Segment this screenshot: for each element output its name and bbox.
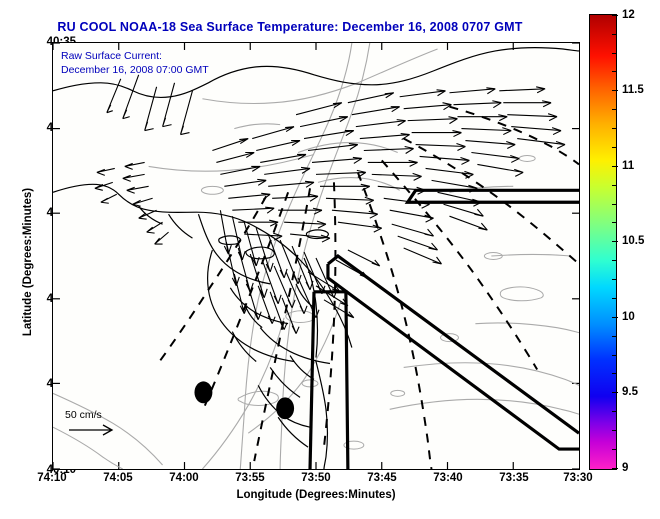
station-markers-layer — [53, 43, 579, 469]
colorbar-tick-label: 12 — [622, 9, 635, 21]
colorbar-tick-label: 10.5 — [622, 235, 644, 247]
x-tick-label: 74:10 — [37, 472, 66, 484]
colorbar-tick-label: 9 — [622, 462, 628, 474]
arrow-right-icon — [65, 421, 121, 439]
colorbar-tick-label: 11 — [622, 160, 634, 172]
x-tick-label: 74:05 — [103, 472, 132, 484]
colorbar-tick-label: 9.5 — [622, 386, 638, 398]
y-axis-label: Latitude (Degrees:Minutes) — [22, 142, 34, 382]
x-tick-label: 73:35 — [499, 472, 528, 484]
x-tick-label: 74:00 — [169, 472, 198, 484]
x-tick-label: 73:45 — [367, 472, 396, 484]
x-axis-label: Longitude (Degrees:Minutes) — [52, 489, 580, 501]
station-marker — [276, 397, 294, 419]
x-tick-label: 73:30 — [563, 472, 592, 484]
map-plot-area[interactable]: Raw Surface Current: December 16, 2008 0… — [52, 42, 580, 470]
current-annotation: Raw Surface Current: December 16, 2008 0… — [61, 49, 209, 77]
annotation-line-2: December 16, 2008 07:00 GMT — [61, 63, 209, 77]
scale-key: 50 cm/s — [65, 409, 121, 444]
colorbar-tick-label: 11.5 — [622, 84, 644, 96]
annotation-line-1: Raw Surface Current: — [61, 49, 209, 63]
x-tick-label: 73:40 — [433, 472, 462, 484]
page-title: RU COOL NOAA-18 Sea Surface Temperature:… — [0, 20, 580, 34]
x-tick-label: 73:55 — [235, 472, 264, 484]
colorbar-tick-label: 10 — [622, 311, 635, 323]
x-tick-label: 73:50 — [301, 472, 330, 484]
scale-key-label: 50 cm/s — [65, 409, 121, 421]
station-marker — [194, 381, 212, 403]
